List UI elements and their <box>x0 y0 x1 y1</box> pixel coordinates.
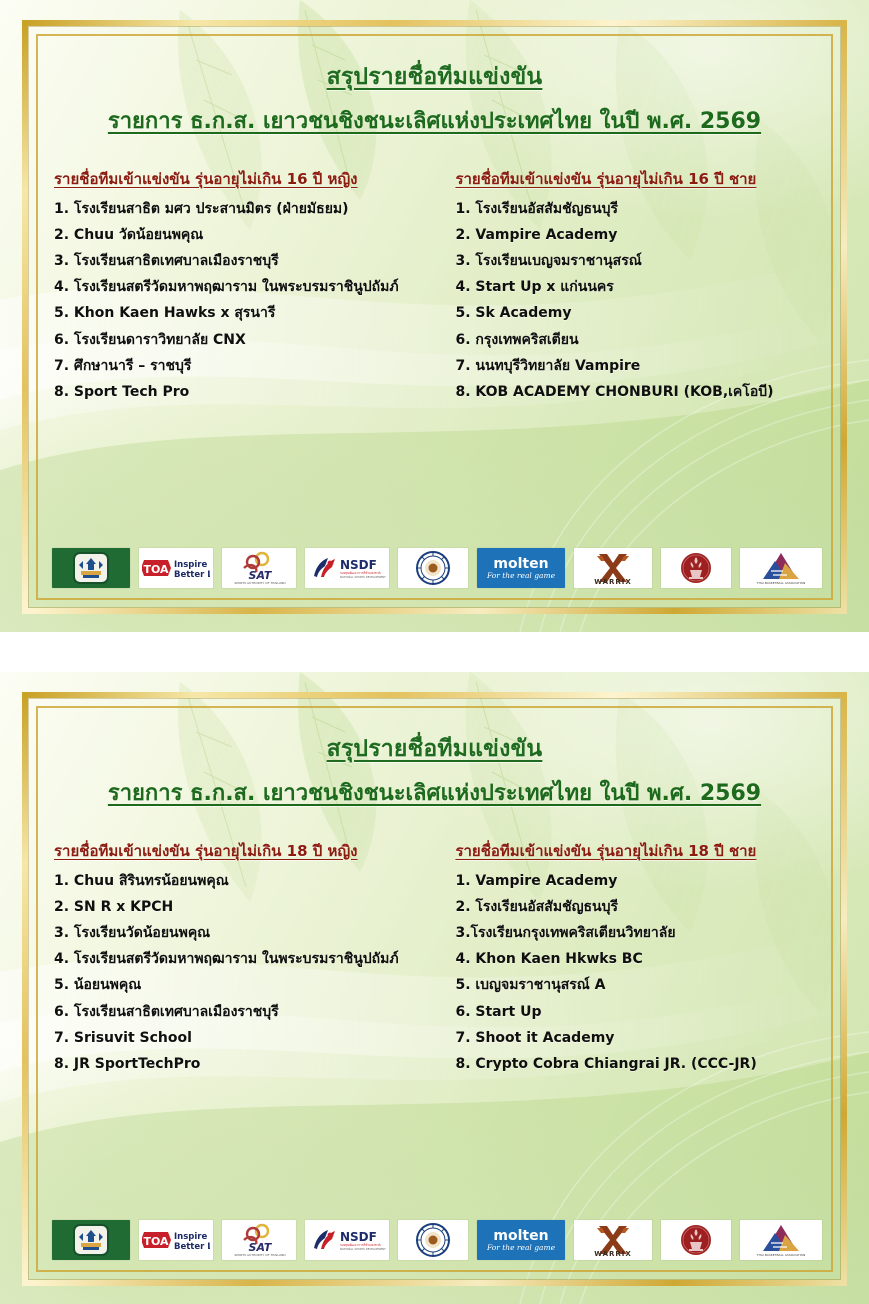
toa-logo: TOA Inspire Better Living <box>139 548 213 588</box>
toa-logo: TOA Inspire Better Living <box>139 1220 213 1260</box>
list-item: 7. นนทบุรีวิทยาลัย Vampire <box>455 359 825 375</box>
list-item: 1. Chuu สิรินทรน้อยนพคุณ <box>54 874 429 890</box>
title-block-1: สรุปรายชื่อทีมแข่งขัน รายการ ธ.ก.ส. เยาว… <box>44 42 825 137</box>
sat-logo: SAT SPORTS AUTHORITY OF THAILAND <box>222 548 296 588</box>
list-item: 8. Crypto Cobra Chiangrai JR. (CCC-JR) <box>455 1057 825 1073</box>
sponsor-logo-strip-2: TOA Inspire Better Living SAT SPORTS AUT… <box>44 1220 825 1260</box>
list-item: 1. Vampire Academy <box>455 874 825 890</box>
team-list-u16-girls: 1. โรงเรียนสาธิต มศว ประสานมิตร (ฝ่ายมัธ… <box>54 202 429 401</box>
red-emblem-seal-logo <box>661 548 731 588</box>
svg-text:Inspire: Inspire <box>174 1232 207 1242</box>
list-item: 3.โรงเรียนกรุงเทพคริสเตียนวิทยาลัย <box>455 926 825 942</box>
column-heading-u18-boys: รายชื่อทีมเข้าแข่งขัน รุ่นอายุไม่เกิน 18… <box>455 839 825 863</box>
page-subtitle: รายการ ธ.ก.ส. เยาวชนชิงชนะเลิศแห่งประเทศ… <box>44 779 825 809</box>
svg-text:THAI BASKETBALL ASSOCIATION: THAI BASKETBALL ASSOCIATION <box>756 581 805 585</box>
list-item: 8. JR SportTechPro <box>54 1057 429 1073</box>
svg-text:THAI BASKETBALL ASSOCIATION: THAI BASKETBALL ASSOCIATION <box>756 1253 805 1257</box>
svg-text:TOA: TOA <box>143 563 169 576</box>
slide-2: สรุปรายชื่อทีมแข่งขัน รายการ ธ.ก.ส. เยาว… <box>0 672 869 1304</box>
sponsor-logo-strip-1: TOA Inspire Better Living SAT SPORTS AUT… <box>44 548 825 588</box>
slide-1: สรุปรายชื่อทีมแข่งขัน รายการ ธ.ก.ส. เยาว… <box>0 0 869 632</box>
list-item: 3. โรงเรียนวัดน้อยนพคุณ <box>54 926 429 942</box>
list-item: 7. Srisuvit School <box>54 1031 429 1047</box>
svg-text:WARRIX: WARRIX <box>594 578 632 585</box>
slide-content-1: สรุปรายชื่อทีมแข่งขัน รายการ ธ.ก.ส. เยาว… <box>44 42 825 594</box>
page-title: สรุปรายชื่อทีมแข่งขัน <box>44 734 825 765</box>
sat-logo: SAT SPORTS AUTHORITY OF THAILAND <box>222 1220 296 1260</box>
warrix-logo: WARRIX <box>574 548 652 588</box>
title-block-2: สรุปรายชื่อทีมแข่งขัน รายการ ธ.ก.ส. เยาว… <box>44 714 825 809</box>
page-subtitle: รายการ ธ.ก.ส. เยาวชนชิงชนะเลิศแห่งประเทศ… <box>44 107 825 137</box>
list-item: 6. โรงเรียนดาราวิทยาลัย CNX <box>54 333 429 349</box>
svg-text:NATIONAL SPORTS DEVELOPMENT FU: NATIONAL SPORTS DEVELOPMENT FUND <box>340 1247 386 1251</box>
team-list-u16-boys: 1. โรงเรียนอัสสัมชัญธนบุรี 2. Vampire Ac… <box>455 202 825 401</box>
list-item: 3. โรงเรียนสาธิตเทศบาลเมืองราชบุรี <box>54 254 429 270</box>
svg-text:molten: molten <box>493 556 548 572</box>
slide-deck: สรุปรายชื่อทีมแข่งขัน รายการ ธ.ก.ส. เยาว… <box>0 0 869 1304</box>
baac-logo <box>52 548 130 588</box>
list-item: 2. โรงเรียนอัสสัมชัญธนบุรี <box>455 900 825 916</box>
svg-text:WARRIX: WARRIX <box>594 1250 632 1257</box>
nsdf-logo: NSDF กองทุนพัฒนาการกีฬาแห่งชาติ NATIONAL… <box>305 548 389 588</box>
svg-text:NSDF: NSDF <box>340 558 377 572</box>
column-u16-girls: รายชื่อทีมเข้าแข่งขัน รุ่นอายุไม่เกิน 16… <box>44 167 429 548</box>
warrix-logo: WARRIX <box>574 1220 652 1260</box>
list-item: 5. เบญจมราชานุสรณ์ A <box>455 978 825 994</box>
column-u18-girls: รายชื่อทีมเข้าแข่งขัน รุ่นอายุไม่เกิน 18… <box>44 839 429 1220</box>
pyramid-logo: THAI BASKETBALL ASSOCIATION <box>740 548 822 588</box>
column-u16-boys: รายชื่อทีมเข้าแข่งขัน รุ่นอายุไม่เกิน 16… <box>439 167 825 548</box>
svg-text:NSDF: NSDF <box>340 1230 377 1244</box>
svg-text:TOA: TOA <box>143 1235 169 1248</box>
team-columns-2: รายชื่อทีมเข้าแข่งขัน รุ่นอายุไม่เกิน 18… <box>44 839 825 1220</box>
emblem-seal-logo <box>398 1220 468 1260</box>
list-item: 5. Sk Academy <box>455 306 825 322</box>
list-item: 8. Sport Tech Pro <box>54 385 429 401</box>
svg-text:SPORTS AUTHORITY OF THAILAND: SPORTS AUTHORITY OF THAILAND <box>234 1253 286 1257</box>
svg-text:Better Living: Better Living <box>174 1242 210 1252</box>
list-item: 2. SN R x KPCH <box>54 900 429 916</box>
list-item: 8. KOB ACADEMY CHONBURI (KOB,เคโอบี) <box>455 385 825 401</box>
column-heading-u16-boys: รายชื่อทีมเข้าแข่งขัน รุ่นอายุไม่เกิน 16… <box>455 167 825 191</box>
nsdf-logo: NSDF กองทุนพัฒนาการกีฬาแห่งชาติ NATIONAL… <box>305 1220 389 1260</box>
svg-text:molten: molten <box>493 1228 548 1244</box>
page-title: สรุปรายชื่อทีมแข่งขัน <box>44 62 825 93</box>
list-item: 5. น้อยนพคุณ <box>54 978 429 994</box>
team-list-u18-boys: 1. Vampire Academy 2. โรงเรียนอัสสัมชัญธ… <box>455 874 825 1073</box>
list-item: 4. Khon Kaen Hkwks BC <box>455 952 825 968</box>
list-item: 1. โรงเรียนอัสสัมชัญธนบุรี <box>455 202 825 218</box>
slide-separator <box>0 632 869 672</box>
list-item: 1. โรงเรียนสาธิต มศว ประสานมิตร (ฝ่ายมัธ… <box>54 202 429 218</box>
list-item: 4. โรงเรียนสตรีวัดมหาพฤฒาราม ในพระบรมราช… <box>54 280 429 296</box>
team-list-u18-girls: 1. Chuu สิรินทรน้อยนพคุณ 2. SN R x KPCH … <box>54 874 429 1073</box>
list-item: 5. Khon Kaen Hawks x สุรนารี <box>54 306 429 322</box>
list-item: 6. โรงเรียนสาธิตเทศบาลเมืองราชบุรี <box>54 1005 429 1021</box>
svg-text:For the real game: For the real game <box>486 1243 556 1252</box>
svg-text:For the real game: For the real game <box>486 571 556 580</box>
slide-content-2: สรุปรายชื่อทีมแข่งขัน รายการ ธ.ก.ส. เยาว… <box>44 714 825 1266</box>
red-emblem-seal-logo <box>661 1220 731 1260</box>
list-item: 3. โรงเรียนเบญจมราชานุสรณ์ <box>455 254 825 270</box>
list-item: 7. Shoot it Academy <box>455 1031 825 1047</box>
column-u18-boys: รายชื่อทีมเข้าแข่งขัน รุ่นอายุไม่เกิน 18… <box>439 839 825 1220</box>
column-heading-u16-girls: รายชื่อทีมเข้าแข่งขัน รุ่นอายุไม่เกิน 16… <box>54 167 429 191</box>
list-item: 2. Chuu วัดน้อยนพคุณ <box>54 228 429 244</box>
baac-logo <box>52 1220 130 1260</box>
molten-logo: molten For the real game <box>477 1220 565 1260</box>
svg-text:Better Living: Better Living <box>174 570 210 580</box>
svg-text:NATIONAL SPORTS DEVELOPMENT FU: NATIONAL SPORTS DEVELOPMENT FUND <box>340 575 386 579</box>
team-columns-1: รายชื่อทีมเข้าแข่งขัน รุ่นอายุไม่เกิน 16… <box>44 167 825 548</box>
list-item: 6. Start Up <box>455 1005 825 1021</box>
list-item: 4. โรงเรียนสตรีวัดมหาพฤฒาราม ในพระบรมราช… <box>54 952 429 968</box>
list-item: 6. กรุงเทพคริสเตียน <box>455 333 825 349</box>
column-heading-u18-girls: รายชื่อทีมเข้าแข่งขัน รุ่นอายุไม่เกิน 18… <box>54 839 429 863</box>
pyramid-logo: THAI BASKETBALL ASSOCIATION <box>740 1220 822 1260</box>
list-item: 4. Start Up x แก่นนคร <box>455 280 825 296</box>
emblem-seal-logo <box>398 548 468 588</box>
svg-text:Inspire: Inspire <box>174 560 207 570</box>
molten-logo: molten For the real game <box>477 548 565 588</box>
svg-text:SPORTS AUTHORITY OF THAILAND: SPORTS AUTHORITY OF THAILAND <box>234 581 286 585</box>
list-item: 7. ศึกษานารี – ราชบุรี <box>54 359 429 375</box>
list-item: 2. Vampire Academy <box>455 228 825 244</box>
